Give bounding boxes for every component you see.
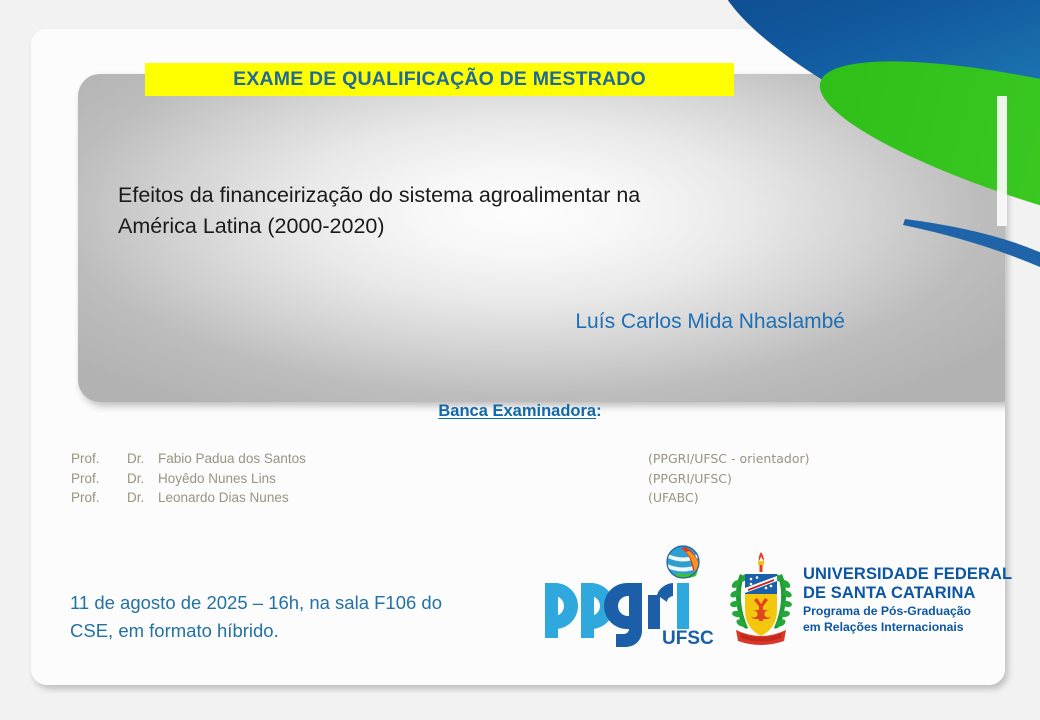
ufsc-crest-icon	[728, 550, 794, 646]
exam-type-label: EXAME DE QUALIFICAÇÃO DE MESTRADO	[233, 68, 646, 91]
member-title: Prof.	[71, 469, 127, 489]
ppgri-logo-graphic: UFSC	[537, 543, 722, 648]
member-degree: Dr.	[127, 449, 158, 469]
ppgri-ufsc-label: UFSC	[662, 628, 714, 648]
ppgri-globe-icon	[667, 546, 699, 578]
examining-board-heading-text: Banca Examinadora	[438, 402, 596, 420]
member-degree: Dr.	[127, 488, 158, 508]
member-affiliation: (PPGRI/UFSC - orientador)	[648, 449, 810, 469]
thesis-title-line-2: América Latina (2000-2020)	[118, 211, 838, 242]
member-name: Hoyêdo Nunes Lins	[158, 469, 276, 489]
examining-board-heading: Banca Examinadora:	[0, 402, 1040, 421]
member-title: Prof.	[71, 449, 127, 469]
ufsc-line-4: em Relações Internacionais	[803, 619, 1012, 635]
member-title: Prof.	[71, 488, 127, 508]
ufsc-logo: UNIVERSIDADE FEDERAL DE SANTA CATARINA P…	[728, 548, 998, 648]
event-date-line-1: 11 de agosto de 2025 – 16h, na sala F106…	[70, 589, 525, 617]
member-name: Leonardo Dias Nunes	[158, 488, 289, 508]
corner-blue-wedge-2	[1015, 95, 1040, 230]
examining-board-list: Prof. Dr. Fabio Padua dos Santos (PPGRI/…	[71, 449, 951, 508]
thesis-title-line-1: Efeitos da financeirização do sistema ag…	[118, 180, 838, 211]
ppgri-logo: UFSC	[537, 543, 722, 648]
board-member-row: Prof. Dr. Hoyêdo Nunes Lins (PPGRI/UFSC)	[71, 469, 951, 489]
event-date-line-2: CSE, em formato híbrido.	[70, 617, 525, 645]
event-date-location: 11 de agosto de 2025 – 16h, na sala F106…	[70, 589, 525, 645]
ufsc-line-2: DE SANTA CATARINA	[803, 584, 1012, 603]
member-name: Fabio Padua dos Santos	[158, 449, 306, 469]
board-member-row: Prof. Dr. Fabio Padua dos Santos (PPGRI/…	[71, 449, 951, 469]
thesis-title: Efeitos da financeirização do sistema ag…	[118, 180, 838, 242]
member-affiliation: (UFABC)	[648, 488, 699, 508]
board-member-row: Prof. Dr. Leonardo Dias Nunes (UFABC)	[71, 488, 951, 508]
member-degree: Dr.	[127, 469, 158, 489]
ufsc-logo-text: UNIVERSIDADE FEDERAL DE SANTA CATARINA P…	[803, 561, 1012, 635]
ufsc-line-3: Programa de Pós-Graduação	[803, 603, 1012, 619]
member-affiliation: (PPGRI/UFSC)	[648, 469, 732, 489]
examining-board-heading-colon: :	[596, 402, 602, 420]
author-name: Luís Carlos Mida Nhaslambé	[300, 310, 845, 334]
exam-type-banner: EXAME DE QUALIFICAÇÃO DE MESTRADO	[145, 63, 734, 96]
ufsc-line-1: UNIVERSIDADE FEDERAL	[803, 565, 1012, 584]
